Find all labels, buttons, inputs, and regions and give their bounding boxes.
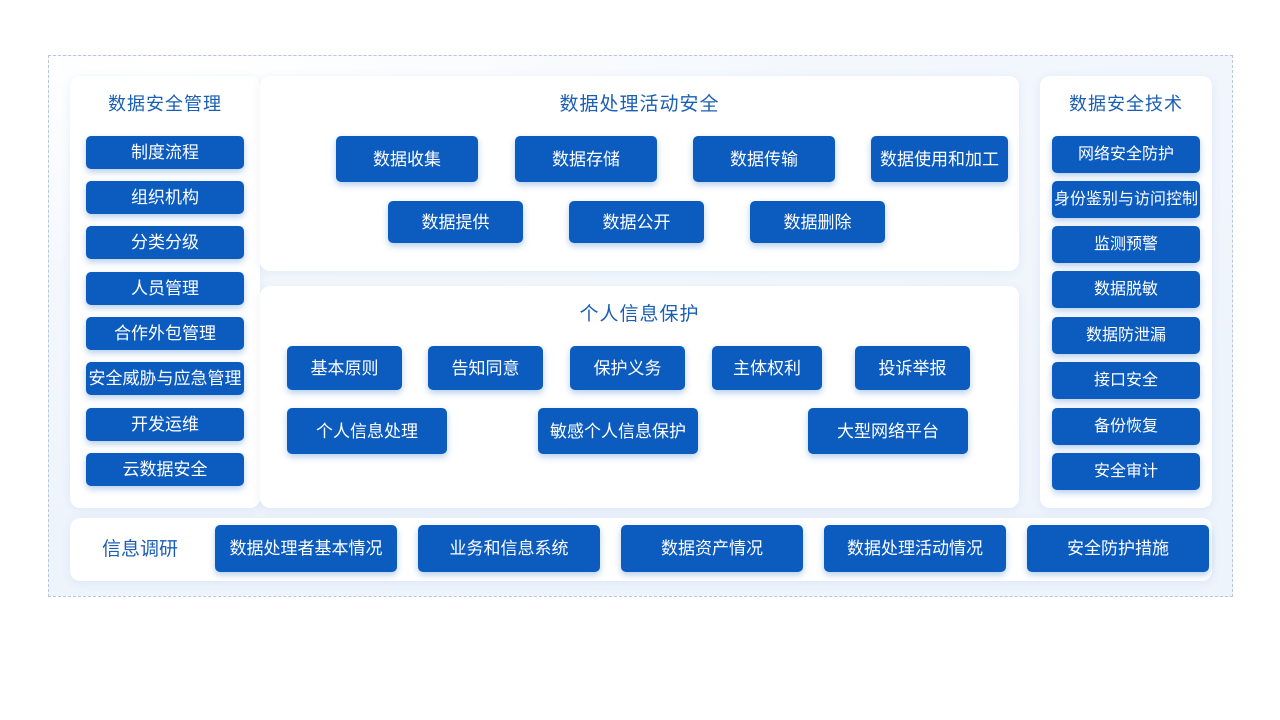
panel-processing-activity-security: 数据处理活动安全 数据收集 数据存储 数据传输 数据使用和加工 数据提供 数据公… xyxy=(260,76,1019,271)
panel-data-security-management: 数据安全管理 制度流程 组织机构 分类分级 人员管理 合作外包管理 安全威胁与应… xyxy=(70,76,260,508)
chip-survey-0[interactable]: 数据处理者基本情况 xyxy=(215,525,397,572)
chip-technology-2[interactable]: 监测预警 xyxy=(1052,226,1200,263)
panel-data-security-technology: 数据安全技术 网络安全防护 身份鉴别与访问控制 监测预警 数据脱敏 数据防泄漏 … xyxy=(1040,76,1212,508)
chip-technology-7[interactable]: 安全审计 xyxy=(1052,453,1200,490)
chip-personal-r1-3[interactable]: 主体权利 xyxy=(712,346,822,390)
chip-technology-6[interactable]: 备份恢复 xyxy=(1052,408,1200,445)
chip-processing-r1-2[interactable]: 数据传输 xyxy=(693,136,835,182)
chip-survey-3[interactable]: 数据处理活动情况 xyxy=(824,525,1006,572)
chip-personal-r1-0[interactable]: 基本原则 xyxy=(287,346,402,390)
chip-management-3[interactable]: 人员管理 xyxy=(86,272,244,305)
chip-processing-r2-1[interactable]: 数据公开 xyxy=(569,201,704,243)
chip-personal-r2-2[interactable]: 大型网络平台 xyxy=(808,408,968,454)
chip-management-2[interactable]: 分类分级 xyxy=(86,226,244,259)
chip-personal-r1-1[interactable]: 告知同意 xyxy=(428,346,543,390)
panel-title-personal: 个人信息保护 xyxy=(260,286,1019,324)
chip-personal-r1-2[interactable]: 保护义务 xyxy=(570,346,685,390)
chip-technology-0[interactable]: 网络安全防护 xyxy=(1052,136,1200,173)
panel-title-processing: 数据处理活动安全 xyxy=(260,76,1019,114)
chip-management-7[interactable]: 云数据安全 xyxy=(86,453,244,486)
chip-management-4[interactable]: 合作外包管理 xyxy=(86,317,244,350)
chip-technology-4[interactable]: 数据防泄漏 xyxy=(1052,317,1200,354)
chip-personal-r2-0[interactable]: 个人信息处理 xyxy=(287,408,447,454)
chip-processing-r1-1[interactable]: 数据存储 xyxy=(515,136,657,182)
panel-title-survey: 信息调研 xyxy=(102,539,178,561)
diagram-frame: 数据安全管理 制度流程 组织机构 分类分级 人员管理 合作外包管理 安全威胁与应… xyxy=(48,55,1233,597)
chip-survey-1[interactable]: 业务和信息系统 xyxy=(418,525,600,572)
chip-management-6[interactable]: 开发运维 xyxy=(86,408,244,441)
chip-processing-r2-0[interactable]: 数据提供 xyxy=(388,201,523,243)
chip-personal-r2-1[interactable]: 敏感个人信息保护 xyxy=(538,408,698,454)
chip-technology-3[interactable]: 数据脱敏 xyxy=(1052,271,1200,308)
chip-management-1[interactable]: 组织机构 xyxy=(86,181,244,214)
panel-title-management: 数据安全管理 xyxy=(70,76,260,113)
chip-technology-1[interactable]: 身份鉴别与访问控制 xyxy=(1052,181,1200,218)
panel-title-technology: 数据安全技术 xyxy=(1040,76,1212,113)
chip-personal-r1-4[interactable]: 投诉举报 xyxy=(855,346,970,390)
chip-processing-r1-0[interactable]: 数据收集 xyxy=(336,136,478,182)
chip-management-5[interactable]: 安全威胁与应急管理 xyxy=(86,362,244,395)
panel-personal-information-protection: 个人信息保护 基本原则 告知同意 保护义务 主体权利 投诉举报 个人信息处理 敏… xyxy=(260,286,1019,508)
chip-survey-4[interactable]: 安全防护措施 xyxy=(1027,525,1209,572)
chip-management-0[interactable]: 制度流程 xyxy=(86,136,244,169)
chip-survey-2[interactable]: 数据资产情况 xyxy=(621,525,803,572)
chip-processing-r1-3[interactable]: 数据使用和加工 xyxy=(871,136,1008,182)
panel-information-survey: 信息调研 数据处理者基本情况 业务和信息系统 数据资产情况 数据处理活动情况 安… xyxy=(70,518,1212,581)
chip-technology-5[interactable]: 接口安全 xyxy=(1052,362,1200,399)
chip-processing-r2-2[interactable]: 数据删除 xyxy=(750,201,885,243)
